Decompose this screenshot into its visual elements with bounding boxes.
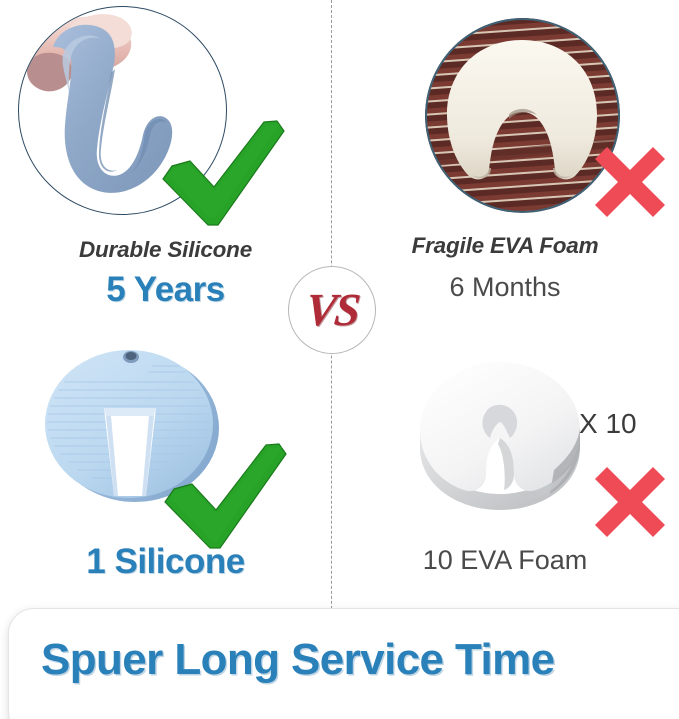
quadrant-top-left: Durable Silicone 5 Years <box>0 0 331 330</box>
durable-silicone-label: Durable Silicone <box>79 237 252 262</box>
product-comparison-infographic: Durable Silicone 5 Years <box>0 0 679 719</box>
quantity-x10-label-row: X 10 <box>579 408 637 440</box>
right-bottom-value-row: 10 EVA Foam <box>331 545 679 576</box>
five-years-value: 5 Years <box>106 270 225 309</box>
left-top-value-row: 5 Years <box>0 270 331 310</box>
left-bottom-value-row: 1 Silicone <box>0 542 331 582</box>
quadrant-bottom-right: X 10 10 EVA Foam <box>331 330 679 605</box>
right-top-caption-row: Fragile EVA Foam <box>331 233 679 259</box>
red-cross-icon <box>593 465 667 539</box>
green-check-icon <box>160 117 286 229</box>
vs-badge: VS <box>288 266 376 354</box>
quadrant-top-right: Fragile EVA Foam 6 Months <box>331 0 679 330</box>
green-check-icon <box>162 440 288 552</box>
quantity-x10-label: X 10 <box>579 408 637 439</box>
fragile-eva-foam-label: Fragile EVA Foam <box>412 233 599 258</box>
vs-label: VS <box>303 287 360 333</box>
right-top-value-row: 6 Months <box>331 272 679 303</box>
red-cross-icon <box>593 145 667 219</box>
headline-banner: Spuer Long Service Time <box>8 608 679 719</box>
left-top-caption-row: Durable Silicone <box>0 237 331 263</box>
headline-text: Spuer Long Service Time <box>9 635 555 685</box>
white-eva-foam-cushion-photo <box>404 352 594 512</box>
white-eva-foam-cradle-photo <box>425 18 620 213</box>
quadrant-bottom-left: 1 Silicone <box>0 330 331 605</box>
ten-eva-foam-value: 10 EVA Foam <box>423 545 588 575</box>
one-silicone-value: 1 Silicone <box>86 542 244 581</box>
six-months-value: 6 Months <box>449 272 560 302</box>
